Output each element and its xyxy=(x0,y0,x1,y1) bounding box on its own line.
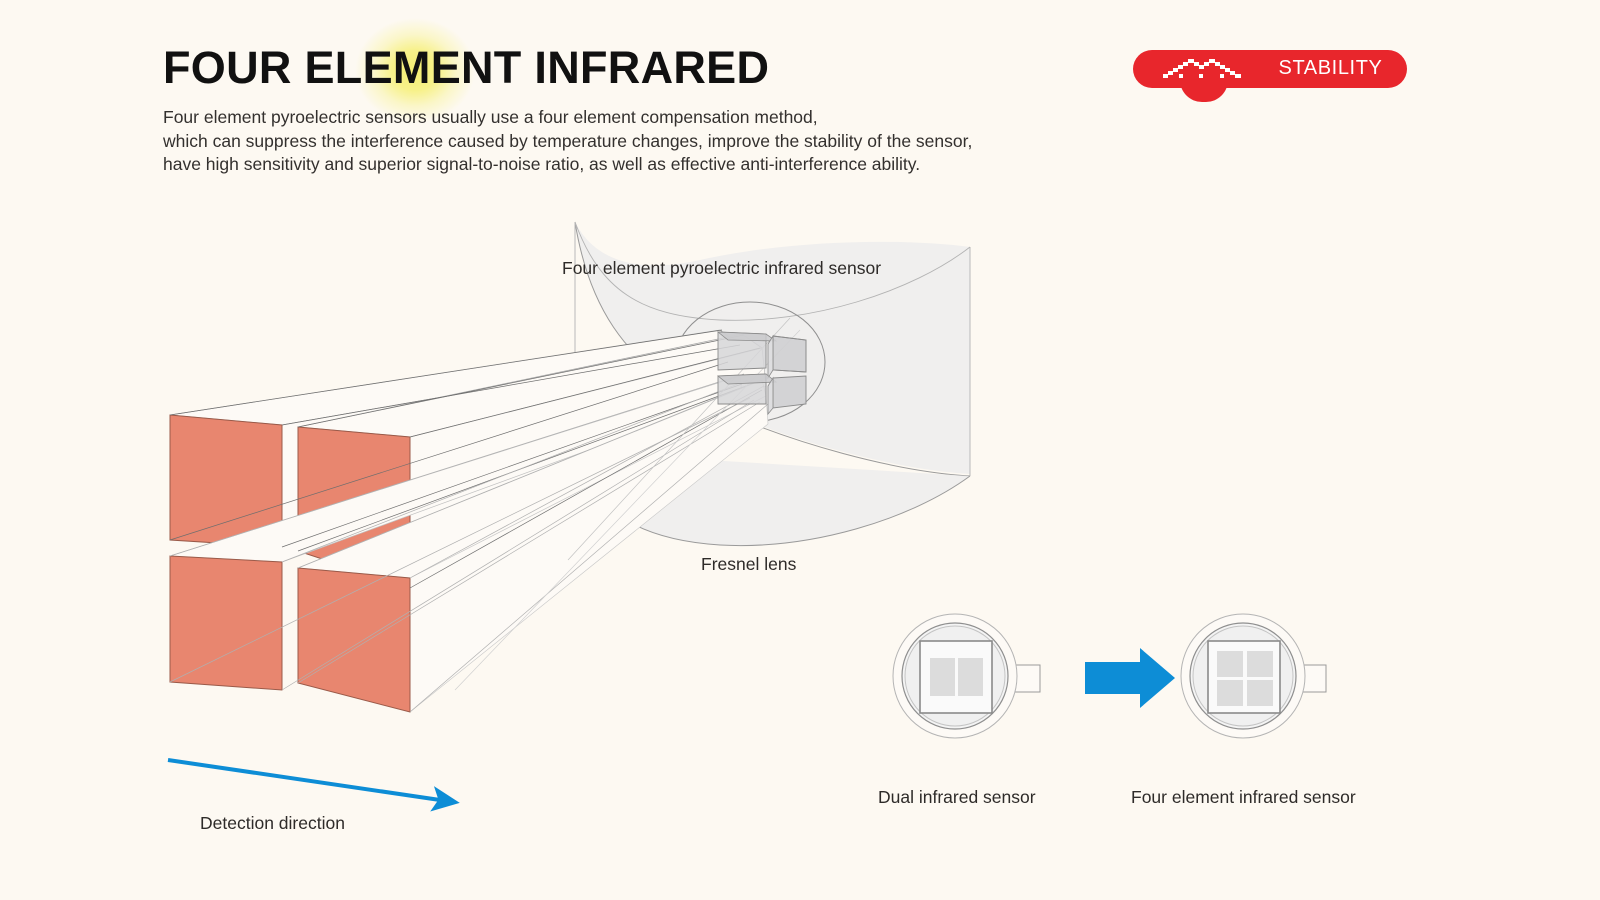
label-fresnel-lens: Fresnel lens xyxy=(701,554,796,575)
ray-lines xyxy=(170,318,800,712)
beam-prism-bottom-left xyxy=(170,376,742,690)
dual-infrared-sensor-illustration xyxy=(893,614,1040,738)
subtitle-paragraph: Four element pyroelectric sensors usuall… xyxy=(163,106,972,177)
detection-direction-arrow xyxy=(168,760,440,800)
beam-prism-top-right xyxy=(298,334,766,588)
badge-label: STABILITY xyxy=(1263,57,1398,80)
subtitle-line-1: Four element pyroelectric sensors usuall… xyxy=(163,106,972,130)
label-four-element-infrared-sensor: Four element infrared sensor xyxy=(1131,787,1356,808)
subtitle-line-2: which can suppress the interference caus… xyxy=(163,130,972,154)
lens-focus-circle xyxy=(675,302,825,422)
subtitle-line-3: have high sensitivity and superior signa… xyxy=(163,153,972,177)
stability-badge[interactable]: STABILITY xyxy=(1133,50,1407,100)
zigzag-waveform-logo-icon xyxy=(1163,58,1243,80)
beam-prism-top-left xyxy=(170,330,742,547)
page-title: FOUR ELEMENT INFRARED xyxy=(163,42,769,94)
slide-canvas: FOUR ELEMENT INFRARED Four element pyroe… xyxy=(0,0,1600,900)
label-detection-direction: Detection direction xyxy=(200,813,345,834)
label-four-element-pyroelectric-sensor: Four element pyroelectric infrared senso… xyxy=(562,258,881,279)
beam-prism-bottom-right xyxy=(298,380,768,712)
comparison-arrow-icon xyxy=(1085,648,1175,708)
four-element-sensor-3d xyxy=(718,332,806,414)
detection-beam-prisms xyxy=(170,330,768,712)
four-element-infrared-sensor-illustration xyxy=(1181,614,1326,738)
label-dual-infrared-sensor: Dual infrared sensor xyxy=(878,787,1036,808)
